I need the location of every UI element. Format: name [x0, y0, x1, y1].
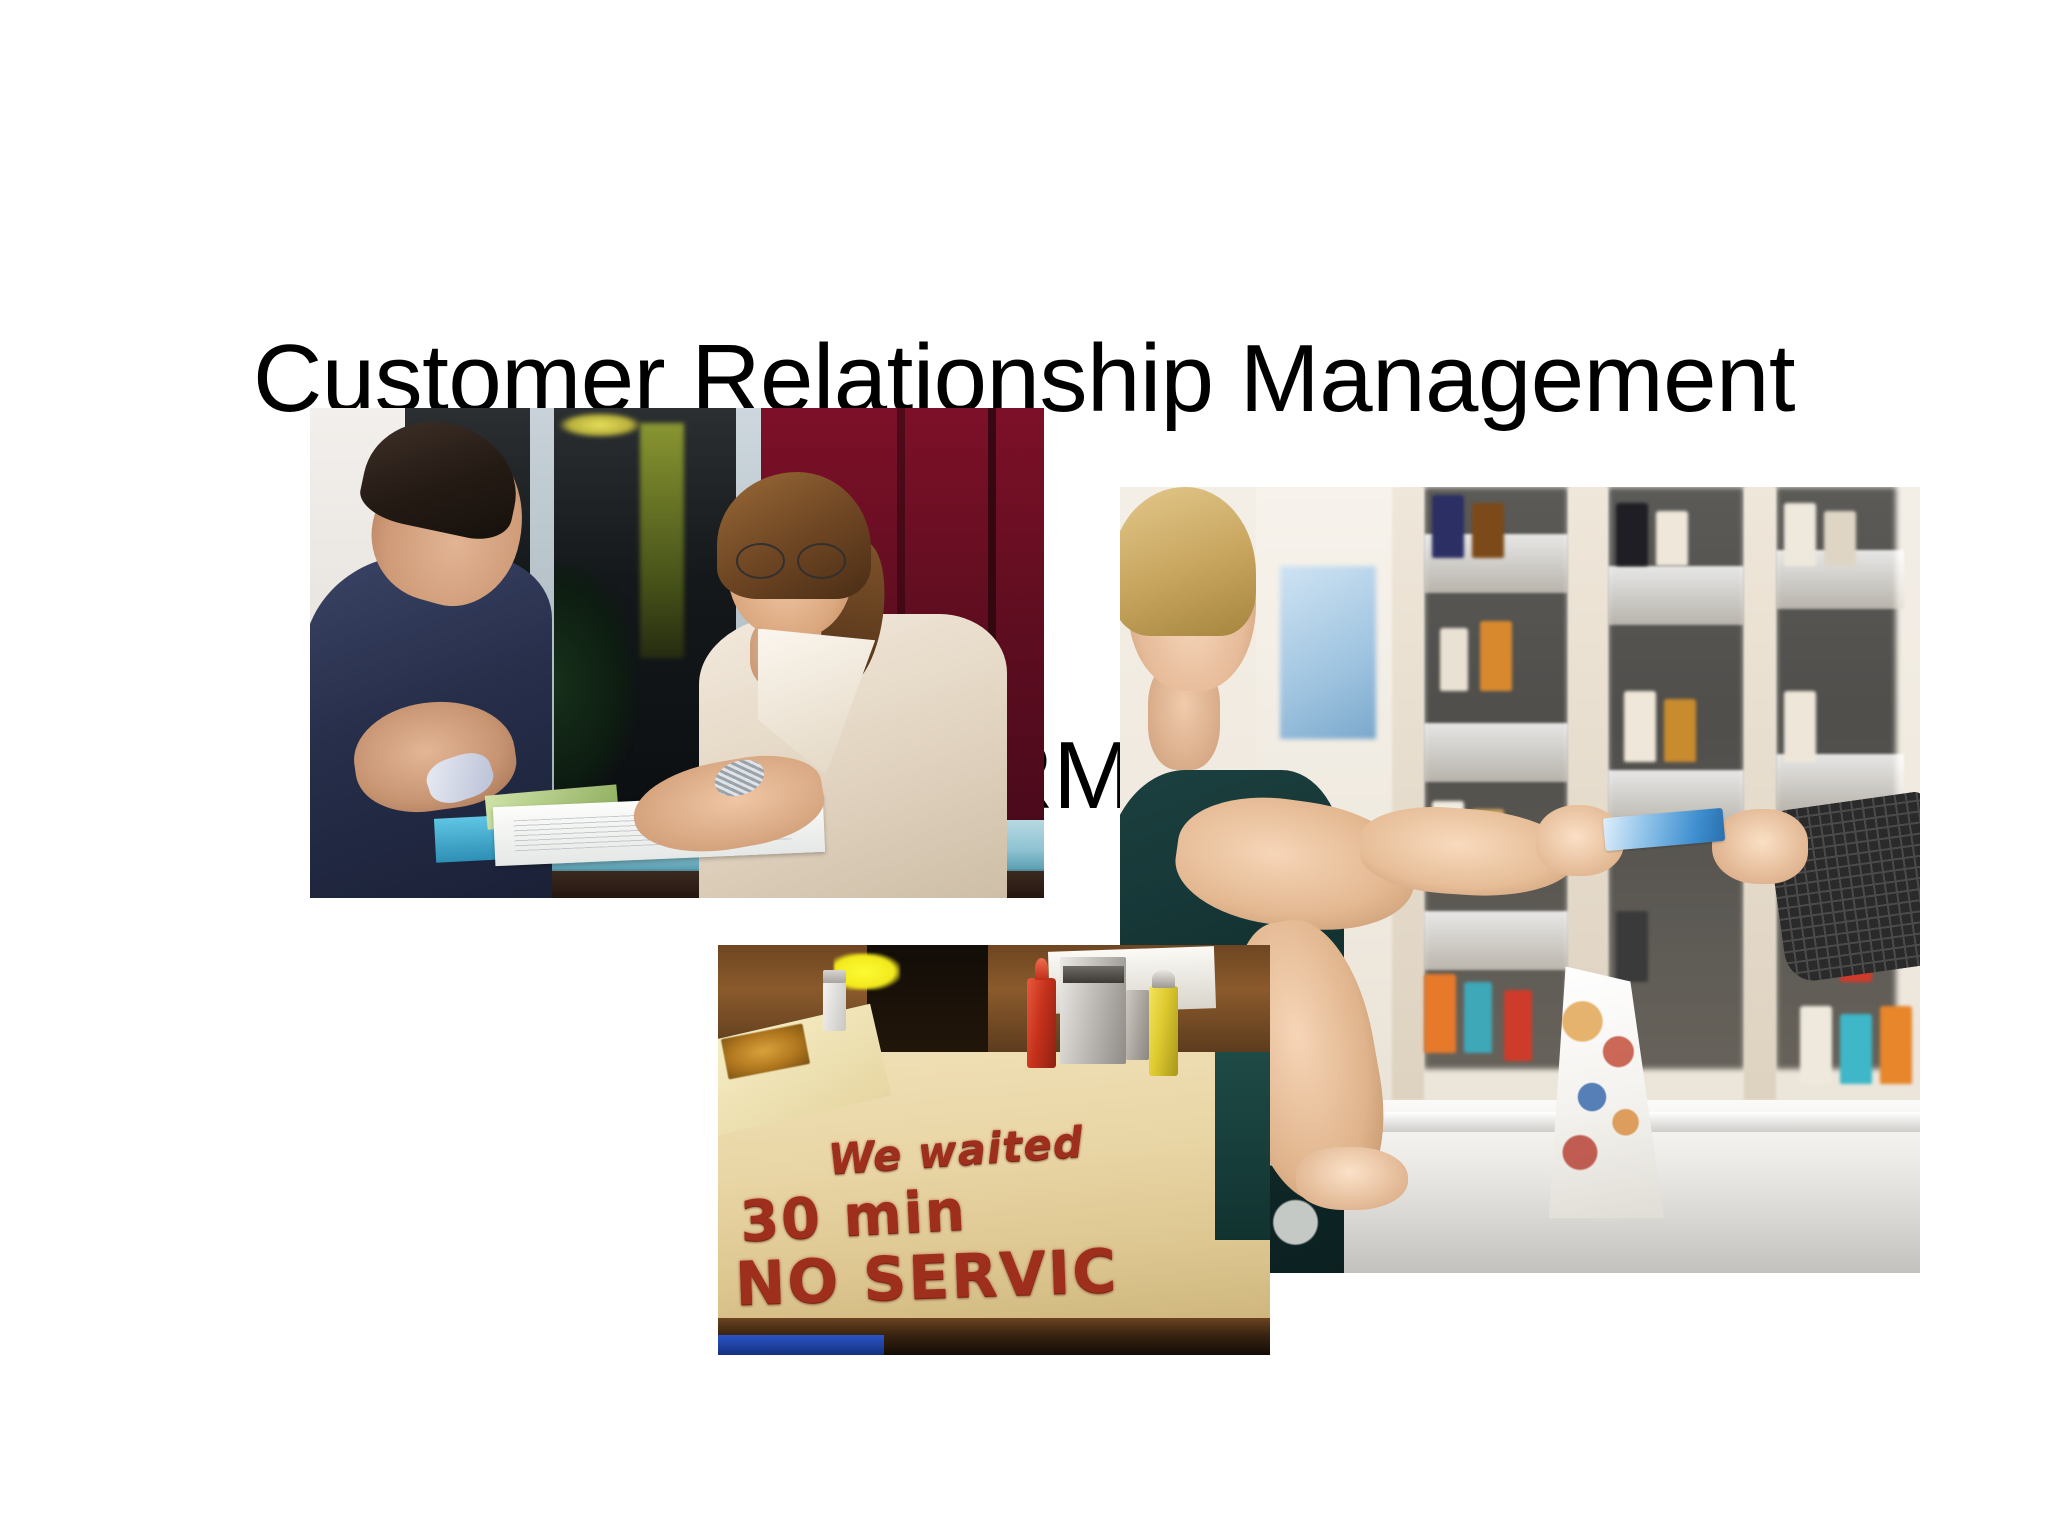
pepper-shaker	[1126, 990, 1148, 1060]
pharmacy-product-bottle	[1840, 1014, 1872, 1085]
pharmacy-shelf-row-2	[1424, 723, 1568, 782]
pharmacy-poster	[1280, 566, 1376, 739]
mustard-bottle	[1149, 986, 1179, 1076]
ketchup-text-line-2: 30 min	[739, 1183, 968, 1251]
ketchup-bottle	[1027, 978, 1056, 1068]
blue-chair-back	[718, 1335, 884, 1356]
pharmacy-product-bottle	[1624, 691, 1656, 762]
seated-person-edge	[1215, 1052, 1270, 1241]
no-service-ketchup-message-photo: We waited 30 min NO SERVIC	[718, 945, 1270, 1355]
pharmacy-product-bottle	[1784, 503, 1816, 566]
pharmacy-product-bottle	[1464, 982, 1492, 1053]
shop-assistant-resting-hand	[1296, 1147, 1408, 1210]
pharmacy-product-bottle	[1656, 511, 1688, 566]
pharmacy-shelf-row-4	[1608, 566, 1744, 625]
pharmacy-product-bottle	[1432, 495, 1464, 558]
business-consultation-photo	[310, 408, 1044, 898]
ketchup-text-line-3: NO SERVIC	[734, 1242, 1119, 1315]
customer-hand	[1712, 809, 1808, 884]
ceiling-light	[560, 413, 641, 438]
pharmacy-product-bottle	[1504, 990, 1532, 1061]
pharmacy-product-bottle	[1472, 503, 1504, 558]
napkin-dispenser	[1060, 957, 1126, 1064]
slide-canvas: Customer Relationship Management (CRM)	[0, 0, 2048, 1536]
pharmacy-shelf-row-3	[1424, 911, 1568, 970]
eyeglasses-icon	[736, 543, 846, 575]
pharmacy-product-bottle	[1880, 1006, 1912, 1085]
salt-shaker	[823, 982, 846, 1031]
pharmacy-product-bottle	[1784, 691, 1816, 762]
pharmacy-product-bottle	[1800, 1006, 1832, 1085]
pharmacy-product-bottle	[1480, 621, 1512, 692]
pharmacy-product-bottle	[1424, 974, 1456, 1053]
pharmacy-product-bottle	[1616, 503, 1648, 566]
pharmacy-shelf-column-3	[1744, 487, 1776, 1100]
pharmacy-shelf-column-1	[1392, 487, 1424, 1100]
pharmacy-product-bottle	[1664, 699, 1696, 762]
pharmacy-product-bottle	[1440, 628, 1468, 691]
pharmacy-product-bottle	[1824, 511, 1856, 566]
pharmacy-product-bottle	[1616, 911, 1648, 982]
background-green-reflection	[640, 423, 684, 658]
